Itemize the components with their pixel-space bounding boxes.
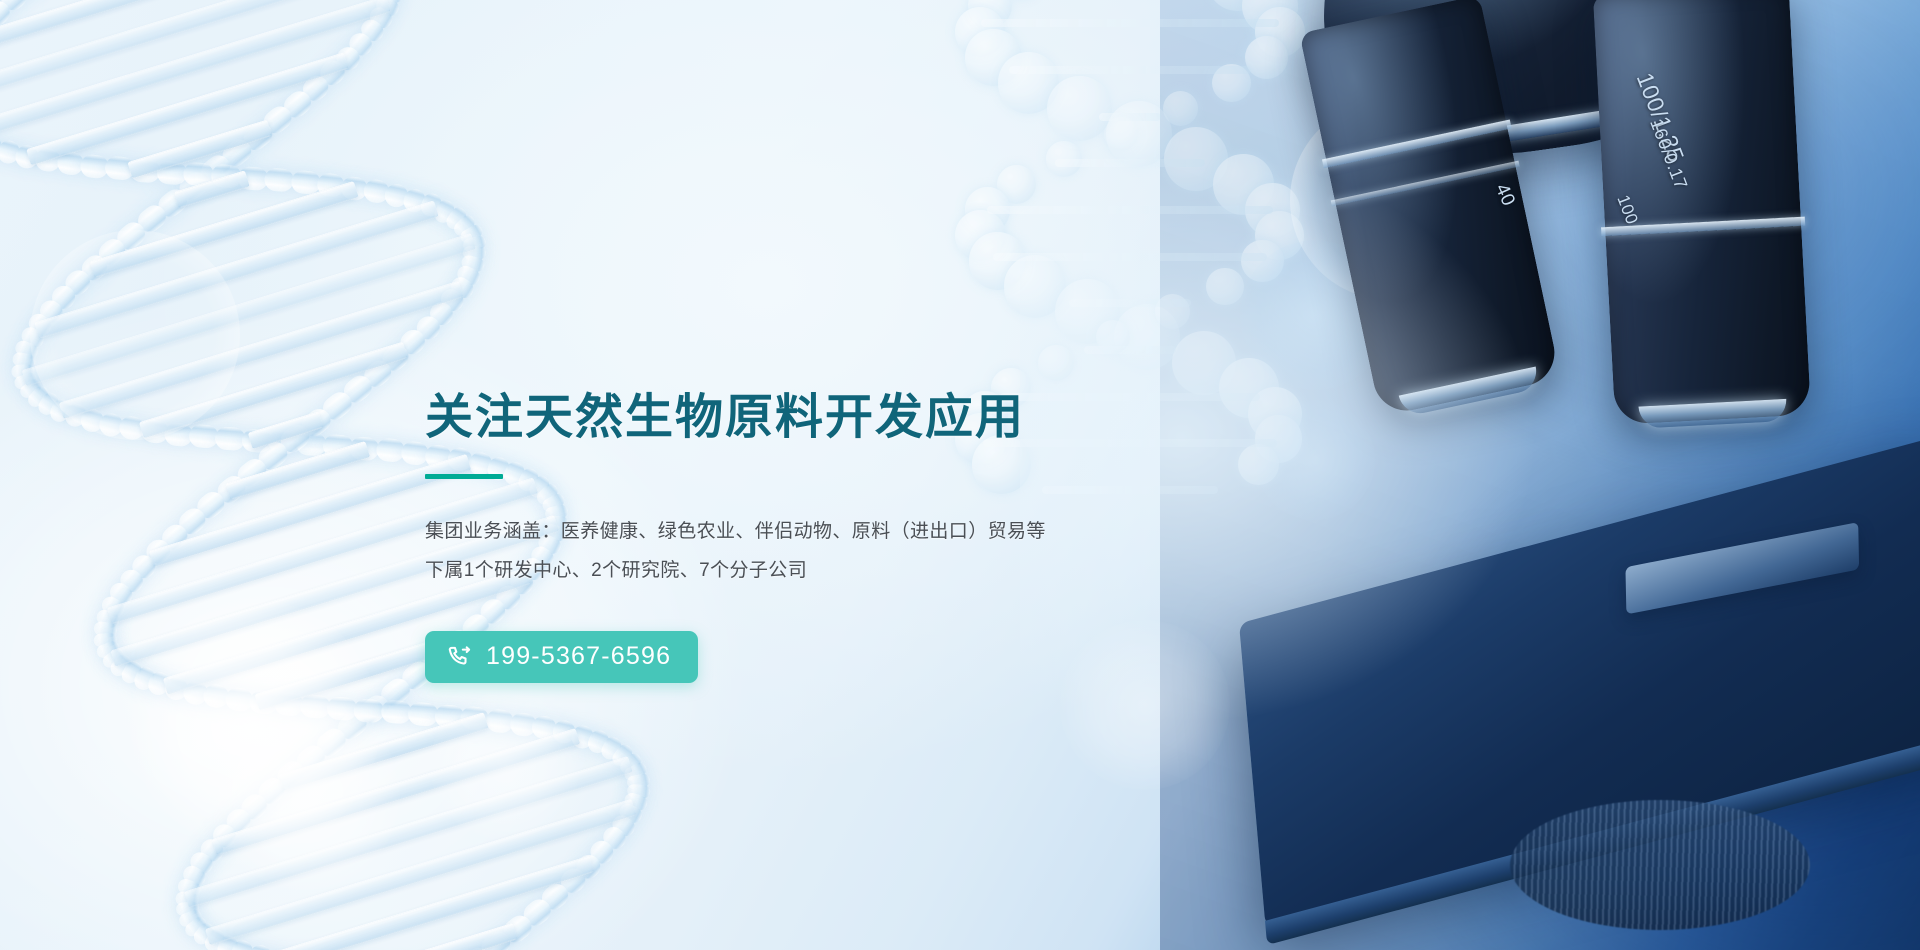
hero-content: 关注天然生物原料开发应用 集团业务涵盖：医养健康、绿色农业、伴侣动物、原料（进出… [425, 390, 1325, 683]
hero-subcopy-line-1: 集团业务涵盖：医养健康、绿色农业、伴侣动物、原料（进出口）贸易等 [425, 513, 1325, 552]
headline-accent-bar [425, 474, 503, 479]
objective-marking-100: 100 [1612, 192, 1641, 227]
microscope-objective-100x: 100/1.25 160/0.17 100 [1593, 0, 1811, 425]
hero-subcopy-line-2: 下属1个研发中心、2个研究院、7个分子公司 [425, 552, 1325, 591]
microscope-focus-knob [1510, 800, 1810, 930]
microscope-slide-clip [1625, 522, 1859, 614]
dna-backbone-segment [353, 698, 385, 723]
dna-backbone-segment [407, 702, 438, 727]
dna-backbone-segment [326, 696, 358, 721]
phone-cta-button[interactable]: 199-5367-6596 [425, 631, 698, 683]
dna-backbone-segment [299, 694, 330, 719]
phone-forward-icon [447, 644, 473, 670]
objective-marking-40: 40 [1490, 181, 1519, 210]
dna-backbone-segment [380, 700, 412, 725]
phone-number-label: 199-5367-6596 [486, 644, 671, 669]
microscope-lens-tip [1399, 367, 1540, 418]
dna-backbone-segment [214, 426, 245, 451]
hero-subcopy: 集团业务涵盖：医养健康、绿色农业、伴侣动物、原料（进出口）贸易等 下属1个研发中… [425, 513, 1325, 591]
microscope-lens-tip [1638, 399, 1788, 429]
hero-headline: 关注天然生物原料开发应用 [425, 390, 1325, 447]
hero-banner: 40 100/1.25 160/0.17 100 关注天然生物原料开发应用 集团… [0, 0, 1920, 950]
